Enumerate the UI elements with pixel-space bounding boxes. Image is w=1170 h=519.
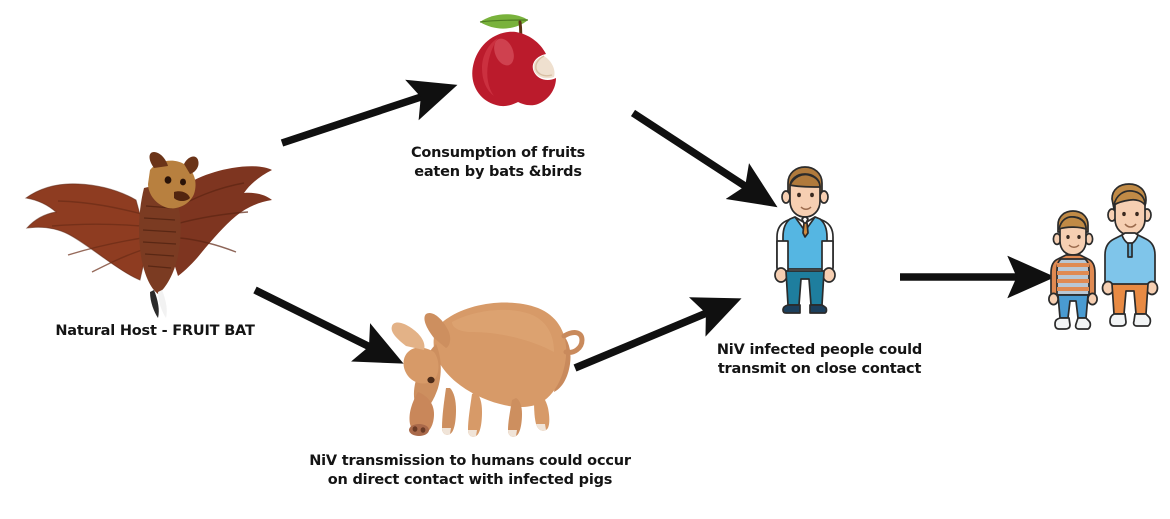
family-pair-icon: [1049, 184, 1158, 329]
adult-figure: [1103, 184, 1158, 326]
infected-person: [762, 163, 848, 323]
caption-pig-contact: NiV transmission to humans could occur o…: [285, 452, 655, 490]
fruit-bat-image: [18, 152, 274, 320]
caption-fruit-consumption: Consumption of fruits eaten by bats &bir…: [398, 144, 598, 182]
caption-fruit-bat: Natural Host - FRUIT BAT: [40, 322, 270, 341]
nipah-transmission-diagram: Natural Host - FRUIT BAT Consumption of …: [0, 0, 1170, 519]
man-icon: [775, 167, 835, 313]
child-figure: [1049, 211, 1097, 329]
close-contact-pair: [1050, 183, 1158, 333]
arrow-pig-to-human: [575, 312, 709, 368]
caption-human-to-human: NiV infected people could transmit on cl…: [692, 341, 947, 379]
arrow-bat-to-fruit: [282, 96, 424, 143]
bitten-apple-icon: [472, 14, 556, 106]
pig-image: [388, 288, 584, 440]
arrow-fruit-to-human: [633, 113, 748, 188]
pig-icon: [392, 303, 582, 437]
apple-image: [458, 4, 576, 108]
fruit-bat-icon: [26, 152, 272, 318]
